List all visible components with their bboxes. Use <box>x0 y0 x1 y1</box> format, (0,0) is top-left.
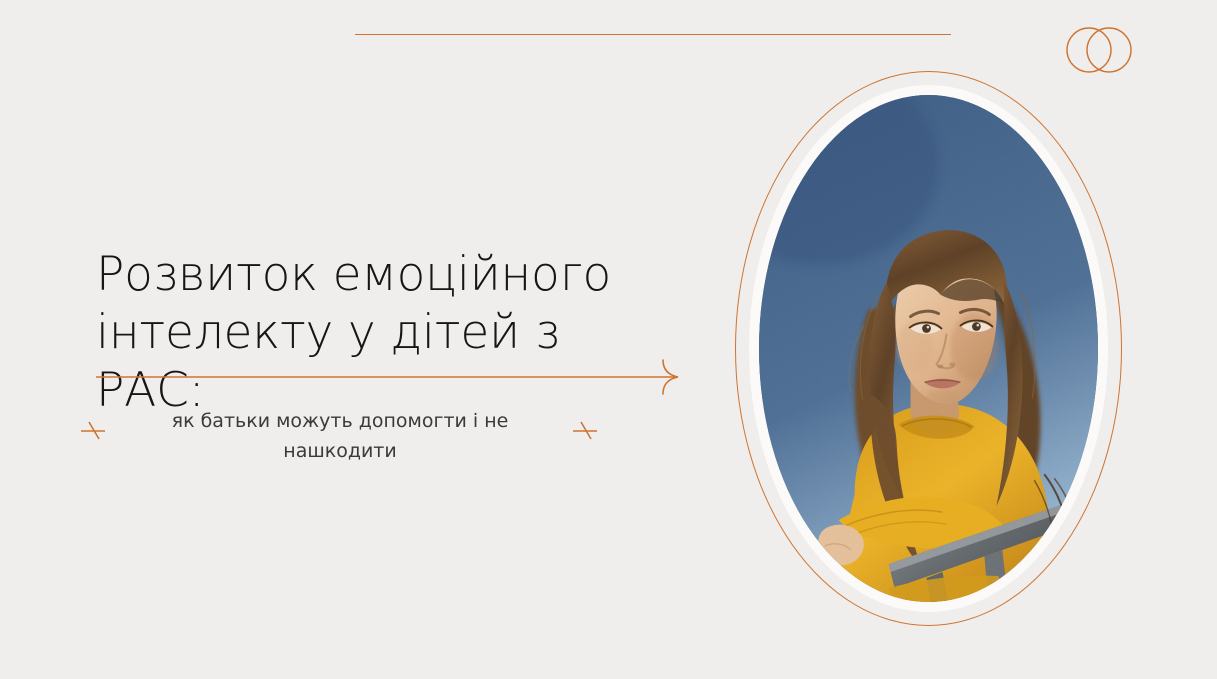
venn-circles-icon <box>1063 26 1135 74</box>
arrow-rule-decoration <box>96 360 686 396</box>
text-block: Розвиток емоційного інтелекту у дітей з … <box>0 0 700 679</box>
page-subtitle: як батьки можуть допомогти і не нашкодит… <box>108 406 572 466</box>
portrait-photo <box>759 95 1098 602</box>
photo-frame <box>735 71 1122 626</box>
subtitle-row: як батьки можуть допомогти і не нашкодит… <box>80 406 600 466</box>
slide-canvas: Розвиток емоційного інтелекту у дітей з … <box>0 0 1217 679</box>
cross-mark-right-icon <box>572 417 600 443</box>
cross-mark-left-icon <box>80 417 108 443</box>
